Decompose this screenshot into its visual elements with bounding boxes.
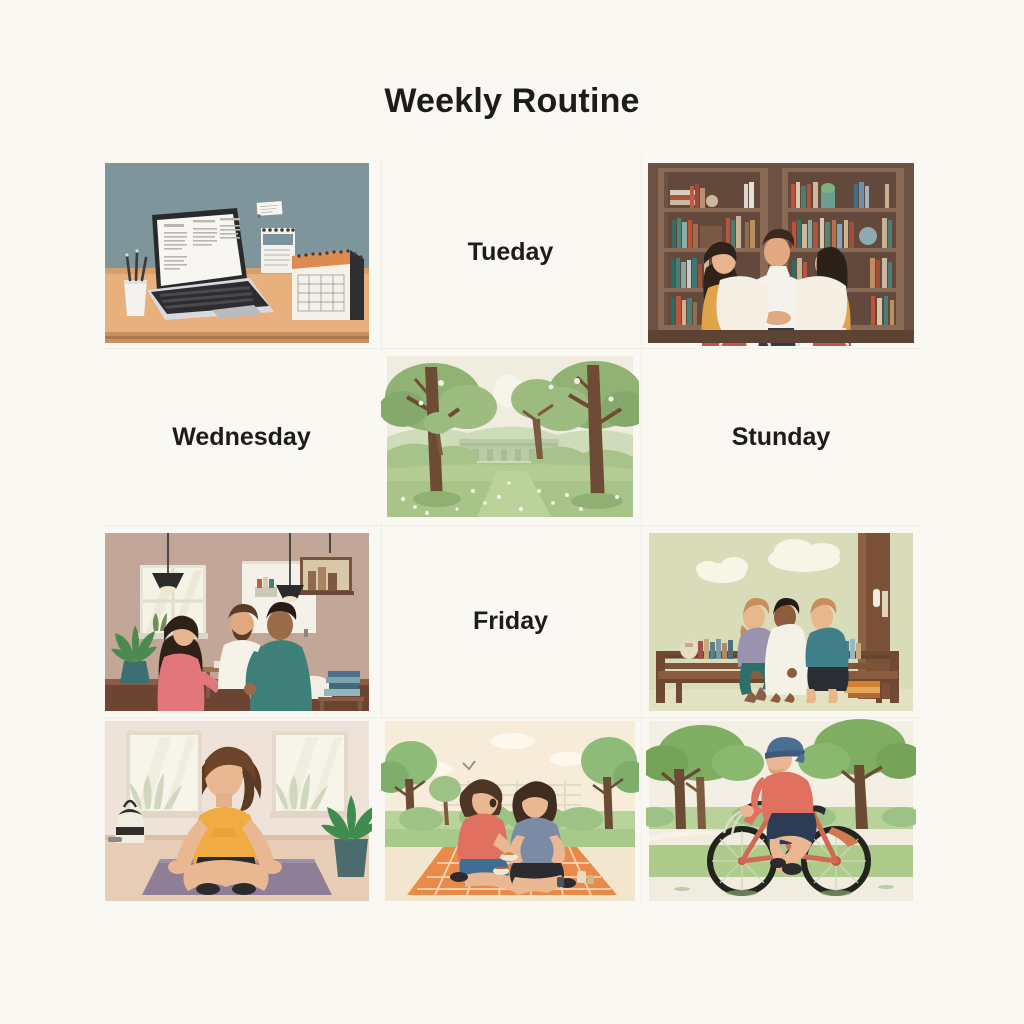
- grid-cell-r3c3: [640, 525, 922, 717]
- cycling-park-illustration: [646, 719, 916, 903]
- grid-cell-r4c3: [640, 717, 922, 906]
- grid-cell-r1c3: [640, 156, 922, 349]
- grid-cell-r1c2: Tueday: [381, 156, 640, 349]
- green-park-illustration: [381, 351, 639, 522]
- page-title: Weekly Routine: [0, 82, 1024, 121]
- grid-cell-r2c3: Stunday: [640, 349, 922, 525]
- grid-cell-r4c2: [381, 717, 640, 906]
- grid-cell-r2c1: Wednesday: [102, 349, 381, 525]
- day-label-wednesday: Wednesday: [102, 349, 381, 525]
- weekly-routine-grid: Tueday: [102, 156, 922, 906]
- cafe-conversation-illustration: [102, 529, 372, 713]
- grid-cell-r3c2: Friday: [381, 525, 640, 717]
- grid-cell-r4c1: [102, 717, 381, 906]
- grid-cell-r2c2: [381, 349, 640, 525]
- grid-cell-r3c1: [102, 525, 381, 717]
- yoga-meditation-illustration: [102, 719, 372, 903]
- desk-work-illustration: [102, 160, 372, 346]
- picnic-blanket-illustration: [381, 719, 639, 903]
- day-label-stunday: Stunday: [640, 349, 922, 525]
- bench-friends-illustration: [646, 529, 916, 713]
- poster-root: Weekly Routine: [0, 0, 1024, 1024]
- grid-cell-r1c1: [102, 156, 381, 349]
- book-club-library-illustration: [646, 160, 916, 346]
- day-label-friday: Friday: [381, 525, 640, 717]
- day-label-tueday: Tueday: [381, 156, 640, 349]
